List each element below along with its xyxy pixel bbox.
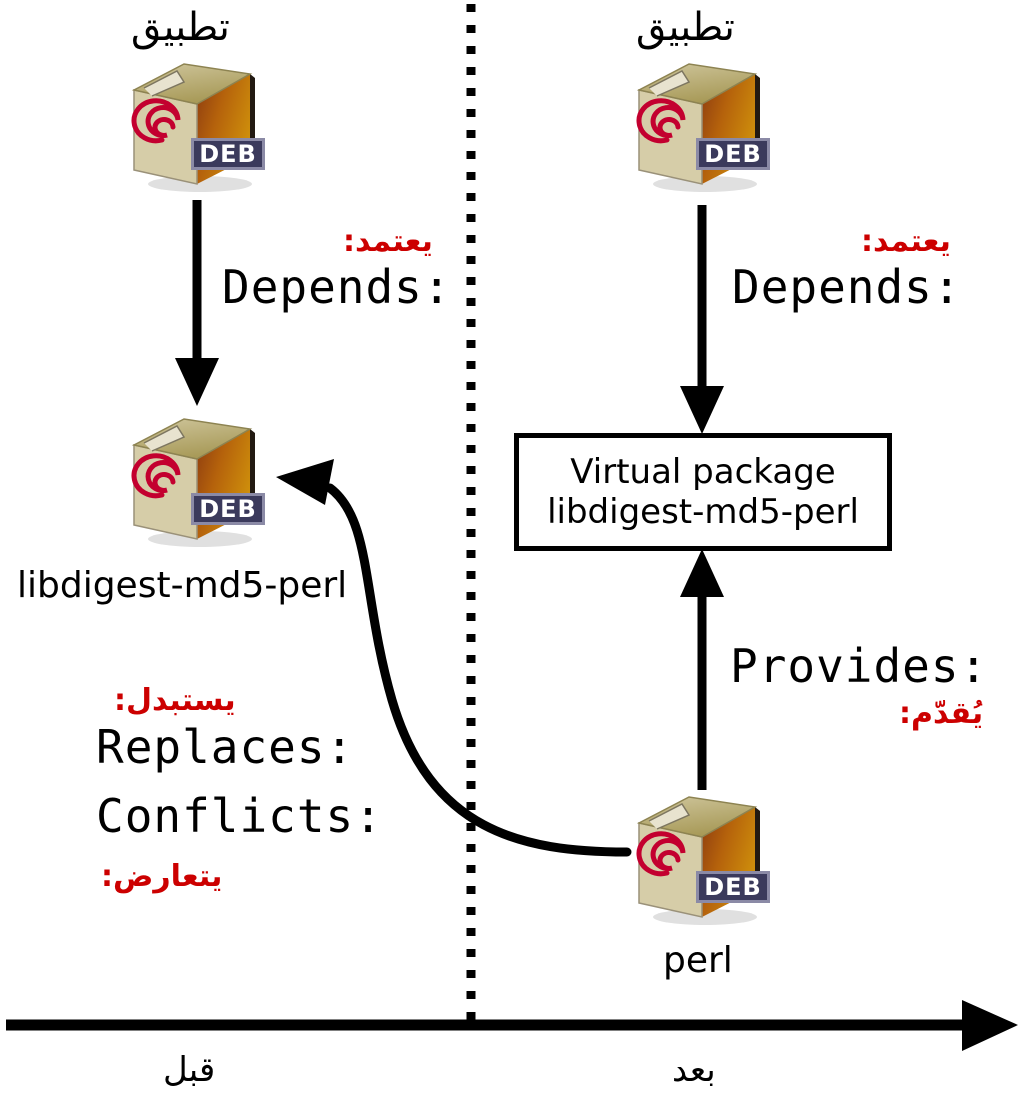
svg-text:DEB: DEB	[704, 140, 762, 168]
left-libdigest-package-name: libdigest-md5-perl	[17, 568, 347, 604]
deb-badge-icon: DEB	[696, 138, 770, 170]
right-depends-arabic-label: يعتمد:	[861, 227, 951, 257]
conflicts-label: Conflicts:	[96, 793, 383, 839]
replaces-label: Replaces:	[96, 724, 354, 770]
left-depends-label: Depends:	[222, 264, 452, 310]
perl-package-icon: DEB	[627, 785, 777, 927]
right-depends-arrow	[680, 205, 724, 434]
left-depends-arabic-label: يعتمد:	[343, 227, 433, 257]
deb-badge-icon: DEB	[191, 138, 265, 170]
virtual-package-box: Virtual package libdigest-md5-perl	[514, 433, 892, 551]
left-app-package-icon: DEB	[122, 52, 272, 194]
provides-arabic-label: يُقدّم:	[899, 699, 983, 729]
svg-text:DEB: DEB	[704, 873, 762, 901]
left-libdigest-package-icon: DEB	[122, 407, 272, 549]
left-depends-arrow	[175, 200, 219, 406]
deb-badge-icon: DEB	[191, 493, 265, 525]
svg-text:DEB: DEB	[199, 140, 257, 168]
deb-badge-icon: DEB	[696, 871, 770, 903]
right-depends-label: Depends:	[732, 264, 962, 310]
right-app-package-icon: DEB	[627, 52, 777, 194]
provides-label: Provides:	[730, 643, 988, 689]
svg-text:DEB: DEB	[199, 495, 257, 523]
replaces-arabic-label: يستبدل:	[114, 686, 236, 716]
timeline-after-label: بعد	[672, 1053, 716, 1087]
provides-arrow	[680, 549, 724, 790]
timeline-before-label: قبل	[163, 1053, 215, 1087]
perl-package-name: perl	[663, 943, 733, 979]
right-app-label: تطبيق	[636, 8, 735, 47]
virtual-package-line-1: Virtual package	[570, 452, 835, 492]
timeline-axis-arrow	[6, 1000, 1018, 1051]
virtual-package-line-2: libdigest-md5-perl	[547, 492, 859, 532]
diagram-canvas: تطبيق	[0, 0, 1024, 1095]
conflicts-arabic-label: يتعارض:	[101, 862, 222, 892]
left-app-label: تطبيق	[131, 8, 230, 47]
